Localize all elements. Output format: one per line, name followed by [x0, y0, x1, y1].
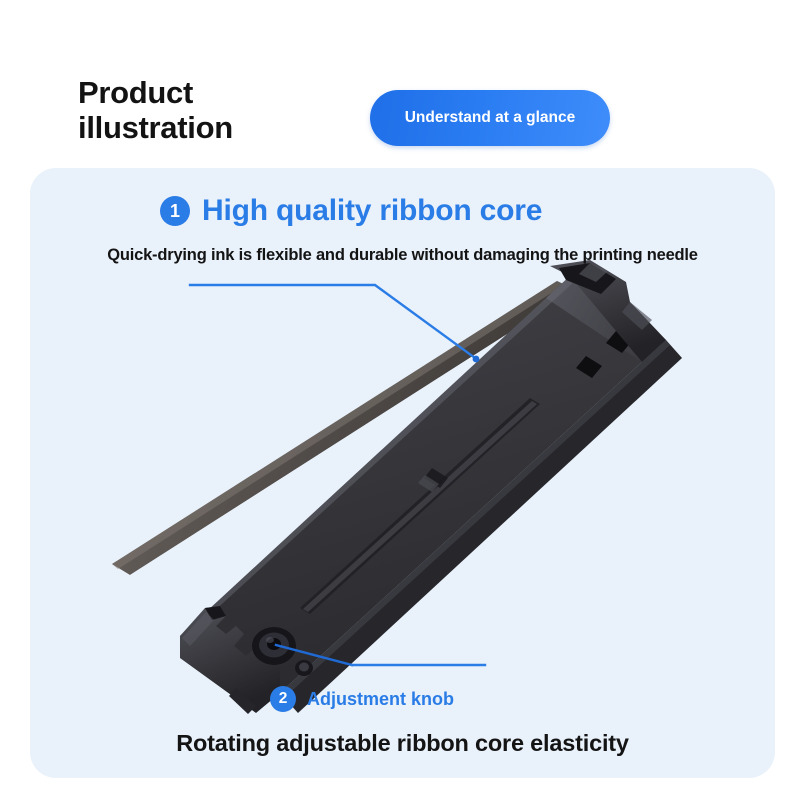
leader-line-one — [190, 285, 479, 362]
understand-at-a-glance-button[interactable]: Understand at a glance — [370, 90, 610, 146]
callout-two: 2 Adjustment knob — [270, 686, 454, 712]
illustration-panel: 1 High quality ribbon core Quick-drying … — [30, 168, 775, 778]
circled-number-two-icon: 2 — [270, 686, 296, 712]
circled-number-one-icon: 1 — [160, 196, 190, 226]
bottom-caption: Rotating adjustable ribbon core elastici… — [30, 730, 775, 757]
callout-two-label: Adjustment knob — [307, 689, 454, 710]
callout-one: 1 High quality ribbon core — [160, 194, 542, 228]
callout-one-label: High quality ribbon core — [202, 194, 542, 228]
product-illustration-page: Product illustration Understand at a gla… — [0, 0, 800, 800]
callout-one-description: Quick-drying ink is flexible and durable… — [30, 246, 775, 265]
page-title: Product illustration — [78, 76, 348, 145]
